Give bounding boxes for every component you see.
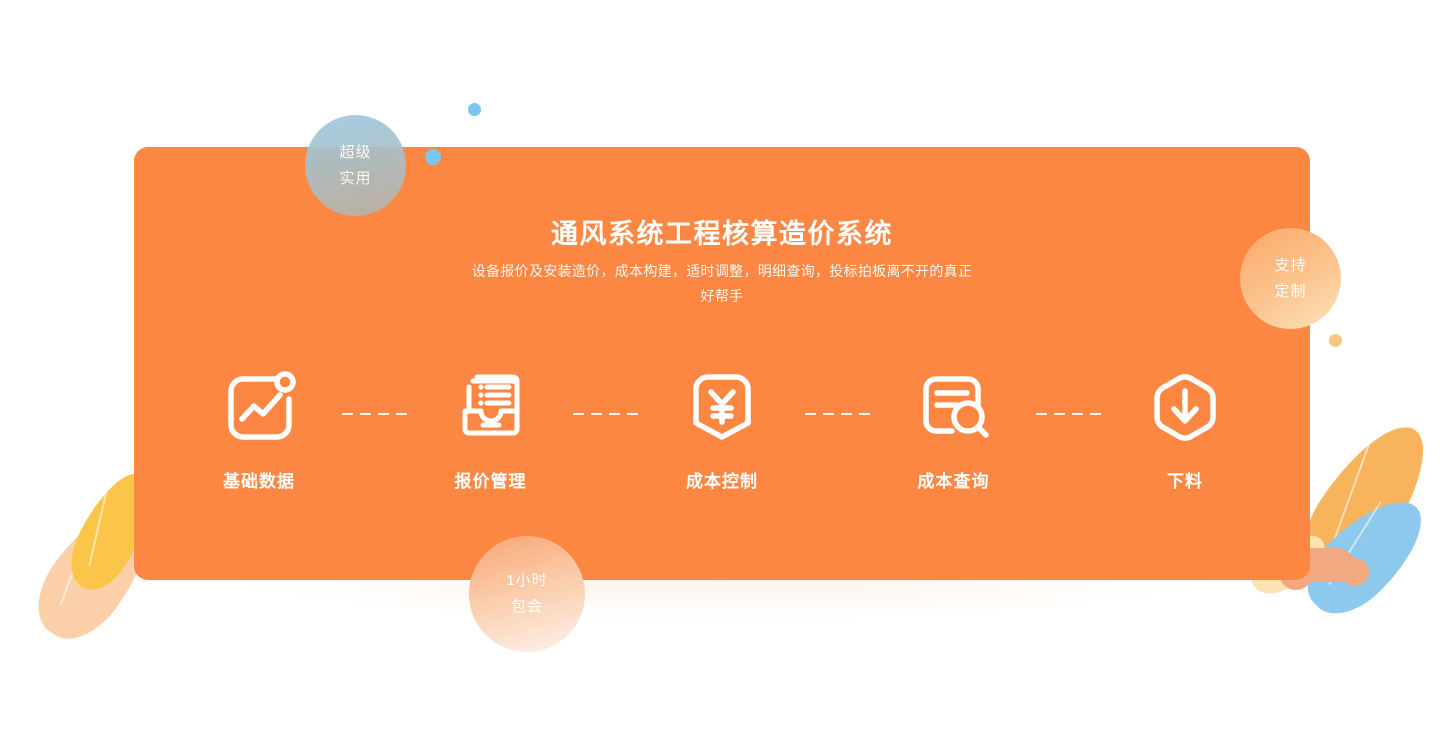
dot-orange-small	[1329, 334, 1342, 347]
badge-line-1: 支持	[1274, 253, 1306, 279]
badge-line-2: 实用	[339, 166, 371, 192]
page-subtitle: 设备报价及安装造价，成本构建，适时调整，明细查询，投标拍板离不开的真正好帮手	[467, 259, 977, 309]
badge-line-1: 1小时	[506, 568, 547, 594]
feature-item-cost-control[interactable]: 成本控制	[657, 365, 787, 492]
chart-square-icon	[217, 365, 301, 449]
badge-one-hour: 1小时 包会	[469, 536, 585, 652]
feature-item-base-data[interactable]: 基础数据	[194, 365, 324, 492]
feature-label: 基础数据	[223, 467, 295, 492]
dot-blue-medium	[425, 149, 441, 165]
leaf-blue-icon	[1291, 482, 1440, 630]
hexagon-download-icon	[1143, 365, 1227, 449]
badge-line-2: 包会	[511, 594, 543, 620]
feature-list: 基础数据 报价管理	[194, 365, 1250, 492]
feature-label: 下料	[1167, 467, 1203, 492]
feature-label: 报价管理	[455, 467, 527, 492]
yuan-tag-icon	[680, 365, 764, 449]
feature-item-cutting[interactable]: 下料	[1120, 365, 1250, 492]
badge-super-practical: 超级 实用	[305, 115, 406, 216]
feature-label: 成本控制	[686, 467, 758, 492]
inbox-document-icon	[449, 365, 533, 449]
connector-dashes	[573, 413, 639, 415]
page-title: 通风系统工程核算造价系统	[134, 212, 1310, 251]
document-search-icon	[912, 365, 996, 449]
connector-dashes	[342, 413, 408, 415]
feature-item-quotation[interactable]: 报价管理	[426, 365, 556, 492]
connector-dashes	[805, 413, 871, 415]
feature-item-cost-query[interactable]: 成本查询	[889, 365, 1019, 492]
badge-support-custom: 支持 定制	[1240, 228, 1341, 329]
badge-line-2: 定制	[1274, 279, 1306, 305]
promo-banner: 通风系统工程核算造价系统 设备报价及安装造价，成本构建，适时调整，明细查询，投标…	[0, 0, 1440, 730]
feature-label: 成本查询	[918, 467, 990, 492]
connector-dashes	[1036, 413, 1102, 415]
dot-blue-small	[468, 103, 481, 116]
badge-line-1: 超级	[339, 140, 371, 166]
feature-card: 通风系统工程核算造价系统 设备报价及安装造价，成本构建，适时调整，明细查询，投标…	[134, 147, 1310, 580]
